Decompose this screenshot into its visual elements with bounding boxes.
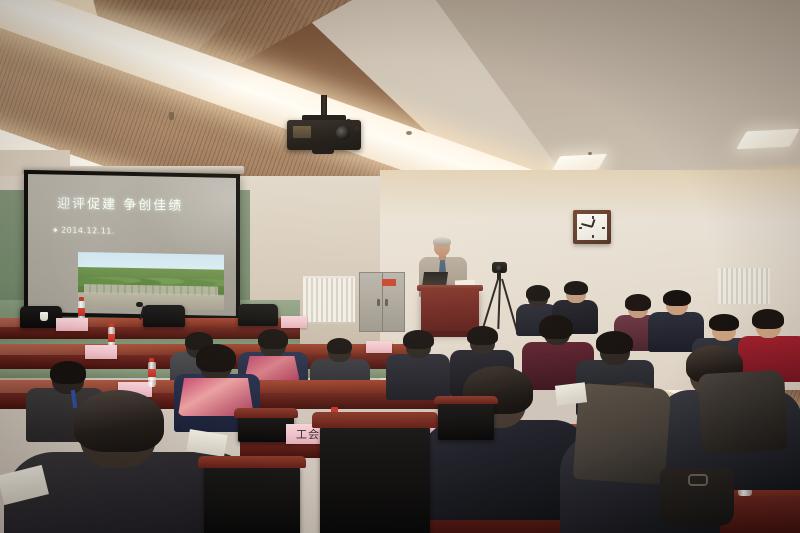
- name-card-f1: [56, 318, 88, 331]
- projector-lens: [336, 126, 350, 140]
- attendee-mg1-torso: [386, 354, 450, 400]
- bottle-cap: [79, 297, 84, 301]
- cabinet-warning-sticker: [382, 279, 396, 286]
- attendee-r2-hair: [564, 281, 588, 295]
- slide-photo: [78, 252, 224, 310]
- attendee-r6-hair: [752, 309, 784, 329]
- radiator-right: [718, 268, 770, 304]
- attendee-fg-left-hair: [74, 390, 164, 452]
- wall-clock: [573, 210, 611, 244]
- projector-foot: [312, 149, 334, 154]
- projection-screen-surface: 迎评促建 争创佳绩 ◆2014.12.11.: [28, 174, 236, 316]
- bottle-cap: [109, 323, 114, 327]
- chair-front-2[interactable]: [143, 305, 185, 327]
- radiator: [303, 276, 355, 324]
- document-sheet-3: [555, 382, 587, 406]
- attendee-r3-hair: [625, 294, 651, 311]
- draped-coat-1: [573, 383, 671, 485]
- attendee-m2-hair: [258, 329, 288, 349]
- conference-room-photo: 迎评促建 争创佳绩 ◆2014.12.11.: [0, 0, 800, 533]
- name-card-r2a: [85, 345, 117, 359]
- bag-clasp-icon: [688, 474, 708, 486]
- paper-cup-f1[interactable]: [40, 312, 48, 321]
- cabinet-handle-left[interactable]: [377, 299, 380, 306]
- desk-row-1-front: [0, 327, 300, 339]
- attendee-m3-hair: [327, 338, 352, 354]
- desk-microphone-1-head: [136, 302, 143, 307]
- camera-lens: [496, 265, 503, 272]
- bottle-label: [108, 334, 115, 342]
- ceiling-fitting: [588, 152, 592, 155]
- clock-mark-9: [579, 227, 582, 229]
- attendee-l1-hair: [50, 361, 86, 384]
- bottle-cap: [149, 358, 154, 362]
- projector-vent: [293, 126, 311, 138]
- sprinkler-head: [169, 112, 174, 120]
- clock-minute-hand: [581, 223, 592, 227]
- chair-fg-2-frame: [198, 456, 306, 468]
- bottle-label: [148, 369, 156, 377]
- chair-front-3[interactable]: [238, 304, 278, 326]
- attendee-r7-hair: [539, 315, 573, 339]
- attendee-r1-hair: [526, 285, 550, 301]
- projector-knob-2: [354, 125, 360, 131]
- projector-knob-1: [345, 119, 352, 126]
- chair-mg-1[interactable]: [438, 400, 494, 440]
- bullet-marker-icon: ◆: [53, 227, 58, 234]
- attendee-mg1-hair: [403, 330, 434, 349]
- attendee-mg2-hair: [467, 326, 498, 345]
- attendee-r4-hair: [663, 290, 691, 306]
- slide-date-bullet: ◆2014.12.11.: [53, 226, 115, 236]
- name-card-r2b: [366, 341, 392, 353]
- name-card-f2: [281, 316, 307, 328]
- smoke-detector: [406, 131, 412, 135]
- slide-date: 2014.12.11.: [61, 226, 115, 236]
- clock-face: [577, 214, 607, 240]
- clock-mark-6: [592, 235, 594, 238]
- chair-fg-1-frame: [312, 412, 438, 428]
- chair-r4-1-frame: [234, 408, 298, 418]
- draped-coat-2: [698, 370, 788, 454]
- attendee-l2-hair: [196, 344, 236, 372]
- chair-fg-1[interactable]: [320, 420, 430, 533]
- chair-mg-1-frame: [434, 396, 498, 404]
- cabinet-handle-right[interactable]: [385, 299, 388, 306]
- water-bottle-r3[interactable]: [148, 362, 156, 387]
- slide-title: 迎评促建 争创佳绩: [57, 192, 183, 213]
- projection-screen: 迎评促建 争创佳绩 ◆2014.12.11.: [24, 170, 240, 320]
- podium: [421, 289, 479, 333]
- clock-mark-3: [602, 227, 605, 229]
- speaker-hair: [433, 237, 451, 246]
- chair-fg-2[interactable]: [204, 462, 300, 533]
- attendee-r5-hair: [709, 314, 739, 331]
- electrical-cabinet[interactable]: [359, 272, 405, 332]
- bottle-label: [78, 308, 85, 316]
- attendee-mg3-hair: [596, 331, 633, 354]
